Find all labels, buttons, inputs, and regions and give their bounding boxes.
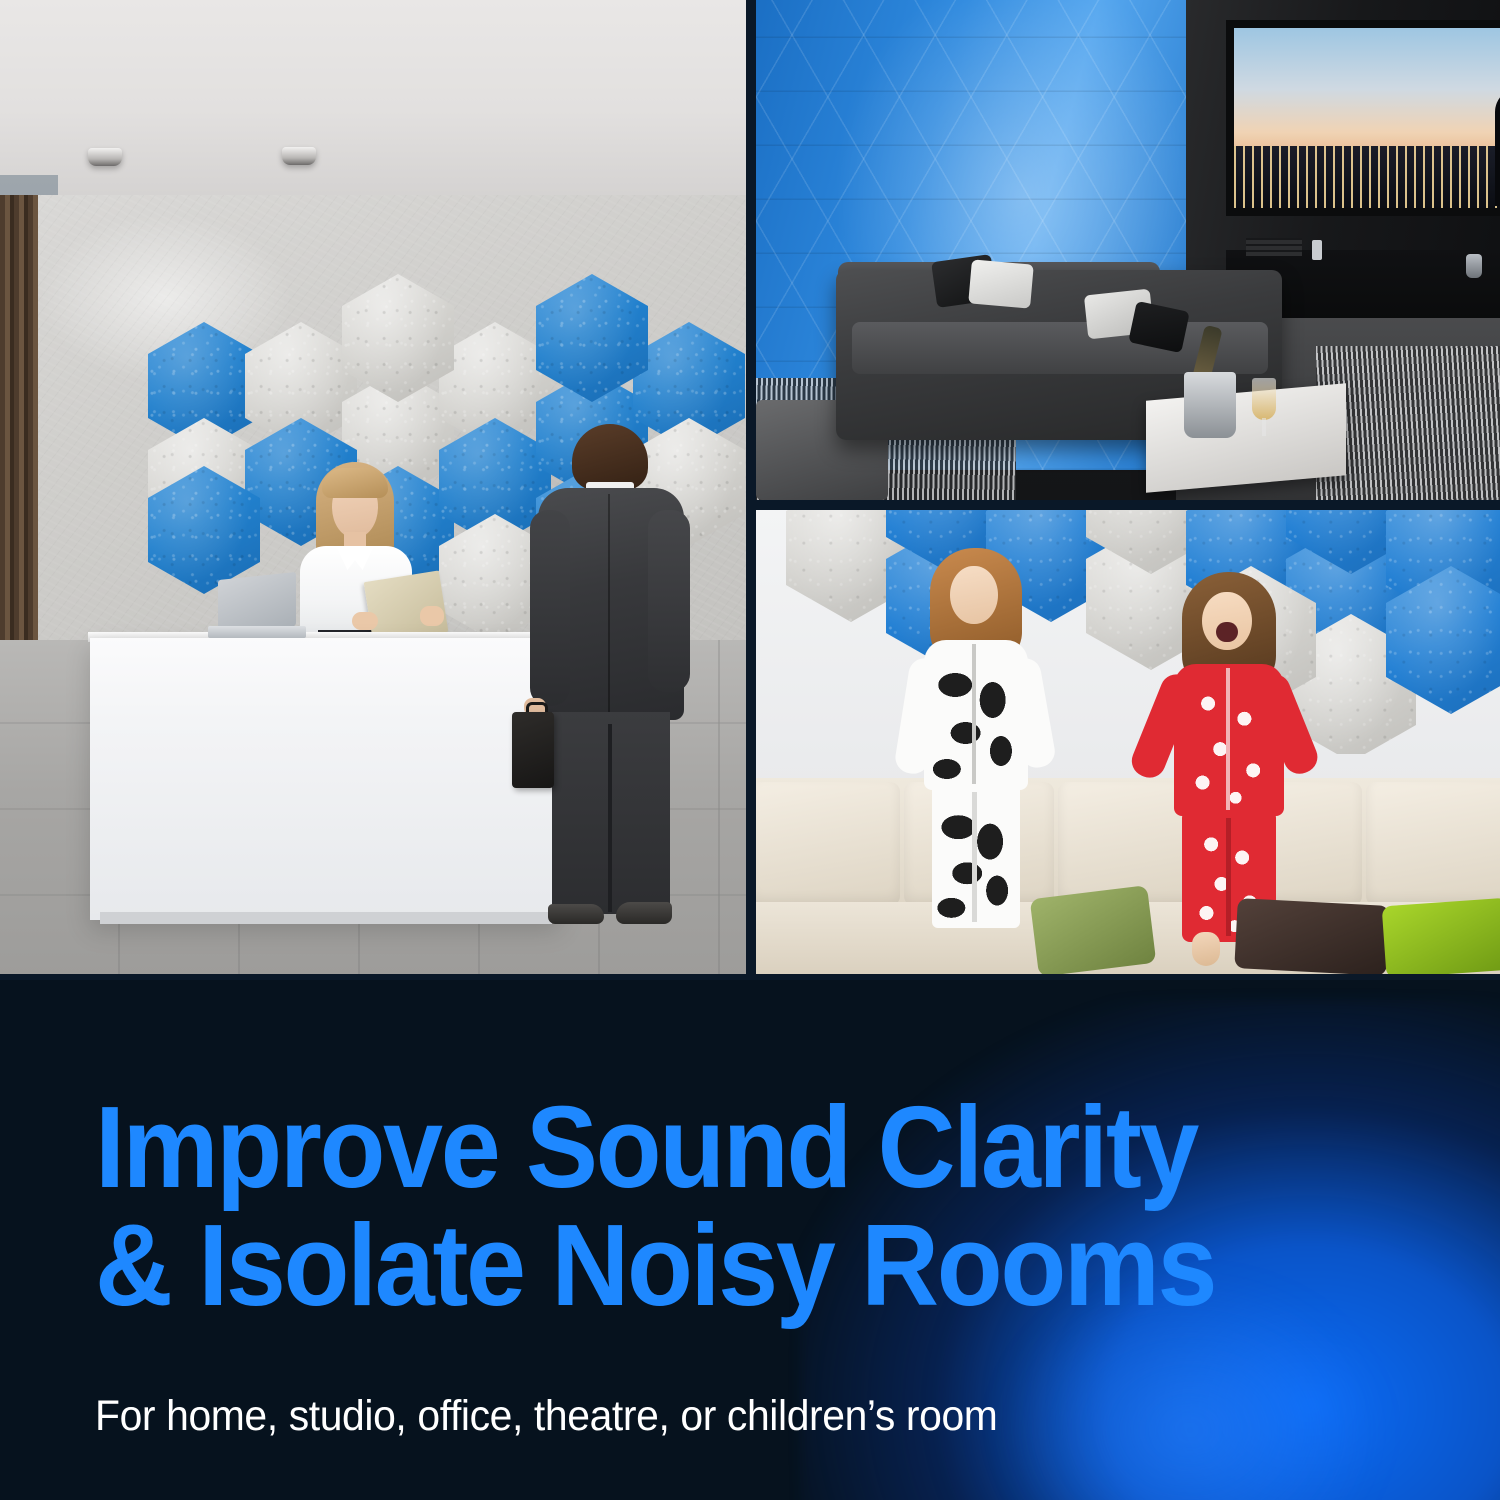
girl-cow-print-onesie: [906, 548, 1046, 928]
remote-control: [1312, 240, 1322, 260]
green-pillow: [1030, 885, 1157, 974]
reception-desk: [90, 638, 560, 920]
side-table: [1146, 383, 1346, 492]
projector-screen: [1234, 28, 1500, 208]
couple-silhouette: [1489, 76, 1500, 206]
businessman: [520, 424, 688, 944]
throw-pillow: [968, 259, 1034, 308]
headline-band: Improve Sound Clarity & Isolate Noisy Ro…: [0, 980, 1500, 1500]
hexagon-acoustic-panel-wall: [756, 510, 1500, 754]
ice-bucket: [1184, 372, 1236, 438]
panel-children-room: [756, 510, 1500, 974]
decorative-vase: [1466, 254, 1482, 278]
product-marketing-poster: Improve Sound Clarity & Isolate Noisy Ro…: [0, 0, 1500, 1500]
hexagon-panel: [342, 274, 454, 402]
receptionist-woman: [292, 462, 418, 642]
lime-pillow: [1382, 898, 1500, 974]
laptop: [218, 572, 296, 634]
brown-pillow: [1234, 898, 1389, 974]
panel-home-theatre: [756, 0, 1500, 500]
panel-office-reception: [0, 0, 746, 974]
subtitle: For home, studio, office, theatre, or ch…: [95, 1325, 1330, 1443]
stacked-books: [1246, 238, 1302, 256]
image-collage: [0, 0, 1500, 980]
page-title: Improve Sound Clarity & Isolate Noisy Ro…: [95, 1088, 1304, 1325]
hexagon-panel: [536, 274, 648, 402]
girl-heart-print-onesie: [1154, 572, 1304, 942]
briefcase: [512, 712, 554, 788]
wine-glass: [1252, 378, 1276, 420]
